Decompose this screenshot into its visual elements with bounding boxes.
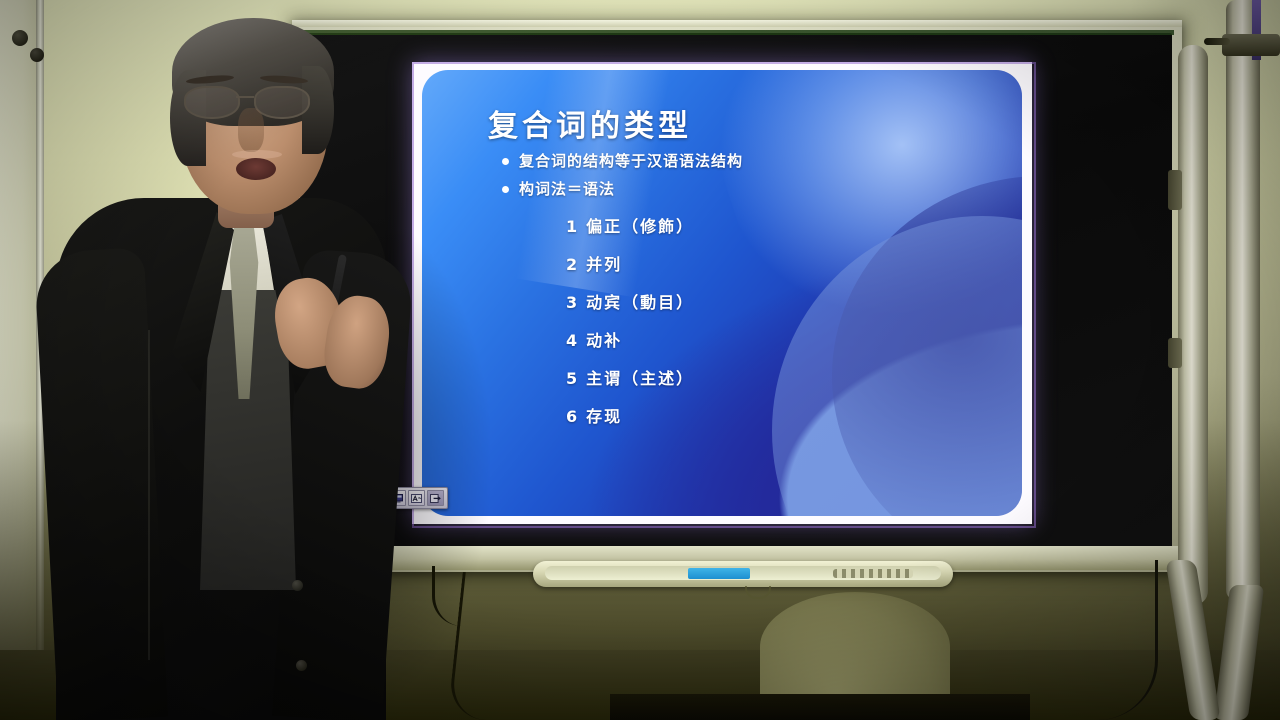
- clamp-bolt: [1204, 38, 1230, 45]
- door-knob-icon: [12, 30, 28, 46]
- presenter-sleeve-seam: [148, 330, 150, 660]
- stand-bracket-upper: [1168, 170, 1182, 210]
- slide-list-item: 2并列: [566, 251, 988, 275]
- list-item-text: 存现: [586, 407, 622, 426]
- stand-pole-rear: [1226, 0, 1260, 600]
- list-item-number: 3: [566, 293, 579, 312]
- powerpoint-slide[interactable]: 复合词的类型 复合词的结构等于汉语语法结构 构词法＝语法 1偏正（修飾） 2并列…: [422, 70, 1022, 516]
- slide-bullet-2: 构词法＝语法: [502, 178, 988, 199]
- list-item-number: 6: [566, 407, 579, 426]
- suit-button: [292, 580, 303, 591]
- list-item-number: 1: [566, 217, 579, 236]
- suit-button: [296, 660, 307, 671]
- foreground-table: [610, 694, 1030, 720]
- eraser[interactable]: [688, 568, 750, 579]
- list-item-number: 5: [566, 369, 579, 388]
- stand-pole-front: [1178, 45, 1208, 605]
- background-round-object: [760, 592, 950, 702]
- display-top-edge: [300, 30, 1174, 35]
- slide-bullet-2-text: 构词法＝语法: [519, 178, 615, 199]
- glasses-lens-left: [184, 86, 240, 119]
- list-item-text: 动补: [586, 331, 622, 350]
- list-item-number: 2: [566, 255, 579, 274]
- glasses-bridge: [236, 96, 254, 98]
- list-item-text: 主谓（主述）: [586, 369, 694, 388]
- slide-list-item: 5主谓（主述）: [566, 365, 988, 389]
- bullet-dot-icon: [502, 158, 509, 165]
- screenshot-stage: 复合词的类型 复合词的结构等于汉语语法结构 构词法＝语法 1偏正（修飾） 2并列…: [0, 0, 1280, 720]
- glasses-lens-right: [254, 86, 310, 119]
- list-item-text: 并列: [586, 255, 622, 274]
- pipe-clamp: [1222, 34, 1280, 56]
- stylus-pens[interactable]: [833, 569, 913, 578]
- slide-content: 复合词的类型 复合词的结构等于汉语语法结构 构词法＝语法 1偏正（修飾） 2并列…: [422, 70, 1022, 516]
- slide-list-item: 1偏正（修飾）: [566, 213, 988, 237]
- slide-bullet-1-text: 复合词的结构等于汉语语法结构: [519, 150, 743, 171]
- list-item-text: 动宾（動目）: [586, 293, 694, 312]
- slide-list-item: 6存现: [566, 403, 988, 427]
- list-item-number: 4: [566, 331, 579, 350]
- list-item-text: 偏正（修飾）: [586, 217, 694, 236]
- slide-list-item: 3动宾（動目）: [566, 289, 988, 313]
- stand-bracket-lower: [1168, 338, 1182, 368]
- bullet-dot-icon: [502, 186, 509, 193]
- presenter: [30, 0, 430, 720]
- slide-bullet-1: 复合词的结构等于汉语语法结构: [502, 150, 988, 171]
- presenter-mouth: [236, 158, 276, 180]
- slide-list-item: 4动补: [566, 327, 988, 351]
- slide-title: 复合词的类型: [488, 110, 988, 143]
- pen-tray[interactable]: [533, 561, 953, 587]
- presenter-nose: [238, 108, 264, 152]
